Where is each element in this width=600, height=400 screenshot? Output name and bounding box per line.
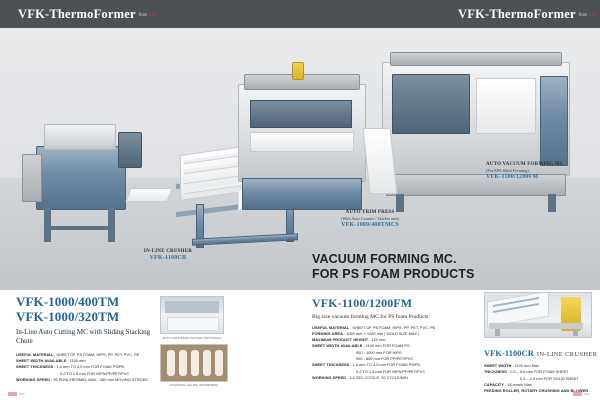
callout-auto-trim-press: AUTO TRIM PRESS (With Auto Counter / Sta… xyxy=(312,210,428,229)
right-model-caption: IN-LINE CRUSHER xyxy=(537,351,598,358)
header-sub-left-accent: VFK xyxy=(149,12,157,17)
right-spec-value: 0.2 – 2.0 mm FOR SOLID SHEET xyxy=(520,376,579,381)
right-spec-value: : 1100 mm Max xyxy=(512,363,539,368)
vacuum-former-control-cabinet xyxy=(540,76,568,166)
photo-caption: STACKING CHUTE (STANDARD) xyxy=(160,383,228,387)
header-sub-left-plain: from xyxy=(139,12,149,17)
right-spec-list: SHEET WIDTH : 1100 mm Max THICKNESS : 0.… xyxy=(484,363,592,395)
left-spec-value: : 1100 mm xyxy=(68,358,86,363)
footer-logo-left-icon xyxy=(8,392,17,397)
footer-mark-left: VFK xyxy=(8,392,25,397)
center-model: VFK-1100/1200FM xyxy=(312,296,484,311)
vacuum-former-top-duct xyxy=(390,52,562,66)
center-spec-label: WORKING SPEED xyxy=(312,375,346,380)
header-title-left: VFK-ThermoFormerfrom VFK xyxy=(18,7,157,22)
right-spec-label: THICKNESS xyxy=(484,369,507,374)
trim-press-base xyxy=(242,178,362,210)
footer-mark-left-text: VFK xyxy=(19,392,25,396)
right-spec-value: : 18 m/min Max xyxy=(505,382,532,387)
center-spec-value: : 1.0 mm TO 4.0 mm FOR FOAM PS/PE, xyxy=(350,362,421,367)
crusher-output-tray xyxy=(125,188,173,202)
vacuum-former-leg-right xyxy=(548,194,556,212)
callout-trim-model: VFK-1000/400TMCS xyxy=(312,222,428,230)
header-title-left-text: VFK-ThermoFormer xyxy=(18,7,136,21)
center-spec-value: 0.2 TO 1.5 mm FOR HIPS/PP/PET/PVC xyxy=(356,369,425,374)
left-spec-label: WORKING SPEED xyxy=(16,377,50,382)
center-spec-label: FORMING AREA xyxy=(312,331,343,336)
left-spec-value: : 90 PUNCHES/MIN. MAX., 180 mm MOVING ST… xyxy=(51,377,149,382)
center-spec-list: USEFUL MATERIAL : SHEET OF PS FOAM, HIPS… xyxy=(312,325,484,382)
crusher-machine-control-panel xyxy=(118,132,142,168)
crusher-leg-right xyxy=(108,208,115,242)
callout-crusher-model: VFK-1100CR xyxy=(118,255,218,263)
crusher-machine-upper-hopper xyxy=(44,124,116,150)
trim-press-platen xyxy=(250,100,352,128)
header-sub-right-plain: from xyxy=(579,12,589,17)
footer-logo-right-icon xyxy=(573,392,582,397)
header-title-right-text: VFK-ThermoFormer xyxy=(458,7,576,21)
trim-press-hydraulic-cyl xyxy=(292,62,304,80)
center-spec-label: SHEET THICKNESS xyxy=(312,362,349,367)
column-left: VFK-1000/400TM VFK-1000/320TM In-Line Au… xyxy=(16,294,156,383)
callout-in-line-crusher: IN-LINE CRUSHER VFK-1100CR xyxy=(118,249,218,263)
footer-mark-right-text: VFK xyxy=(584,392,590,396)
header-sub-left: from VFK xyxy=(139,12,158,17)
spec-area: VFK-1000/400TM VFK-1000/320TM In-Line Au… xyxy=(0,290,600,400)
callout-auto-vacuum-former: AUTO VACUUM FORMING MC (For EPS Sheet Fo… xyxy=(486,162,598,181)
callout-vacuum-model: VFK-1100/1200FM xyxy=(486,174,598,182)
center-spec-value: : 1100 mm FOR FOAM PS xyxy=(364,343,410,348)
left-spec-value: : SHEET OF PS FOAM, HIPS, PP, PET, PVC, … xyxy=(54,352,139,357)
left-model-line2: VFK-1000/320TM xyxy=(16,309,156,324)
footer-mark-right: VFK xyxy=(573,392,590,397)
photo-in-line-crusher xyxy=(484,292,592,338)
photo-caption: AUTO COUNTER/STACKER (OPTIONAL) xyxy=(160,336,224,340)
right-spec-value: : 0.5 – 5.0 mm FOR FOAM SHEET xyxy=(508,369,569,374)
crusher-cross-brace xyxy=(44,226,115,230)
header-sub-right: from VFK xyxy=(579,12,598,17)
photo-stacking-chute xyxy=(160,344,228,382)
right-spec-label: SHEET WIDTH xyxy=(484,363,511,368)
center-spec-value: : 3.0 SEC./CYCLE, 20 CYCLE/MIN. xyxy=(347,375,409,380)
crusher-leg-left xyxy=(44,208,51,242)
right-model: VFK-1100CR xyxy=(484,349,534,358)
left-spec-label: SHEET THICKNESS xyxy=(16,364,53,369)
left-subhead: In-Line Auto Cutting MC with Sliding Sta… xyxy=(16,328,156,347)
brochure-page: VFK-ThermoFormerfrom VFK VFK-ThermoForme… xyxy=(0,0,600,400)
left-model-line1: VFK-1000/400TM xyxy=(16,294,156,309)
center-spec-value: 900 - 800 mm FOR PP/PET/PVC xyxy=(356,356,413,361)
machine-photo-stage: IN-LINE CRUSHER VFK-1100CR AUTO TRIM PRE… xyxy=(0,28,600,290)
header-sub-right-accent: VFK xyxy=(589,12,597,17)
trim-press-sheet-feed xyxy=(250,132,354,152)
center-spec-value: : 120 mm xyxy=(369,337,385,342)
center-spec-label: SHEET WIDTH AVAILABLE xyxy=(312,343,362,348)
left-spec-value: 0.2 TO 1.5 mm FOR HIPS/PP/PET/PVC xyxy=(60,371,129,376)
center-spec-label: MAXIMUM PRODUCT HEIGHT xyxy=(312,337,368,342)
right-model-row: VFK-1100CRIN-LINE CRUSHER xyxy=(484,343,592,361)
left-spec-row: WORKING SPEED : 90 PUNCHES/MIN. MAX., 18… xyxy=(16,377,156,383)
left-spec-list: USEFUL MATERIAL : SHEET OF PS FOAM, HIPS… xyxy=(16,352,156,384)
left-photo-group: AUTO COUNTER/STACKER (OPTIONAL) STACKING… xyxy=(160,296,298,391)
center-spec-value: : 1060 mm × 1200 mm ( MOLD SIZE MAX.) xyxy=(344,331,419,336)
left-spec-label: SHEET WIDTH AVAILABLE xyxy=(16,358,66,363)
vacuum-former-oven-section xyxy=(392,74,470,134)
center-spec-label: USEFUL MATERIAL xyxy=(312,325,349,330)
header-band: VFK-ThermoFormerfrom VFK VFK-ThermoForme… xyxy=(0,0,600,28)
center-spec-row: WORKING SPEED : 3.0 SEC./CYCLE, 20 CYCLE… xyxy=(312,375,484,381)
left-spec-label: USEFUL MATERIAL xyxy=(16,352,53,357)
center-spec-value: : SHEET OF PS FOAM, HIPS, PP, PET, PVC, … xyxy=(350,325,435,330)
center-subhead: Big size vacuum forming MC for PS foam P… xyxy=(312,314,484,320)
vacuum-former-window-panel xyxy=(476,78,536,134)
center-title-line2: FOR PS FOAM PRODUCTS xyxy=(312,267,484,282)
right-spec-label: CAPACITY xyxy=(484,382,504,387)
center-spec-value: 900 - 1000 mm FOR HIPS xyxy=(356,350,402,355)
photo-auto-counter-stacker xyxy=(160,296,224,334)
crusher-machine-side-housing xyxy=(22,154,42,202)
column-center: VACUUM FORMING MC. FOR PS FOAM PRODUCTS … xyxy=(312,252,484,381)
column-right: VFK-1100CRIN-LINE CRUSHER SHEET WIDTH : … xyxy=(484,292,592,395)
left-spec-value: : 1.0 mm TO 4.0 mm FOR FOAM PS/PE, xyxy=(54,364,125,369)
center-title-line1: VACUUM FORMING MC. xyxy=(312,252,484,267)
crusher-machine-main-body xyxy=(36,146,126,210)
header-title-right: VFK-ThermoFormerfrom VFK xyxy=(458,7,597,22)
